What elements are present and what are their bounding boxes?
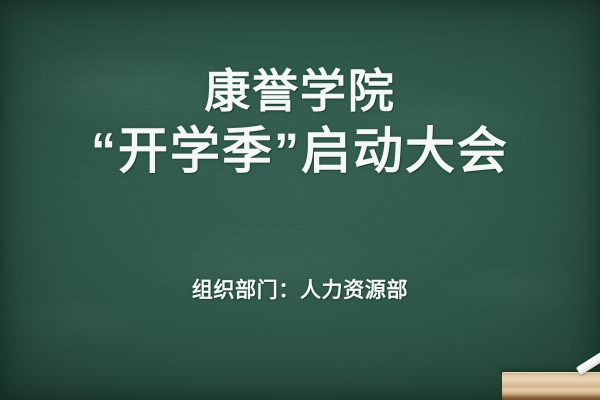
- chalkboard-slide: 康誉学院 “开学季”启动大会 组织部门：人力资源部: [0, 0, 600, 400]
- chalkboard-vignette: [0, 0, 600, 400]
- chalk-ledge-icon: [502, 372, 600, 400]
- title-line-2: “开学季”启动大会: [0, 120, 600, 182]
- slide-title: 康誉学院 “开学季”启动大会: [0, 62, 600, 182]
- title-line-1: 康誉学院: [0, 62, 600, 120]
- slide-subtitle: 组织部门：人力资源部: [0, 274, 600, 304]
